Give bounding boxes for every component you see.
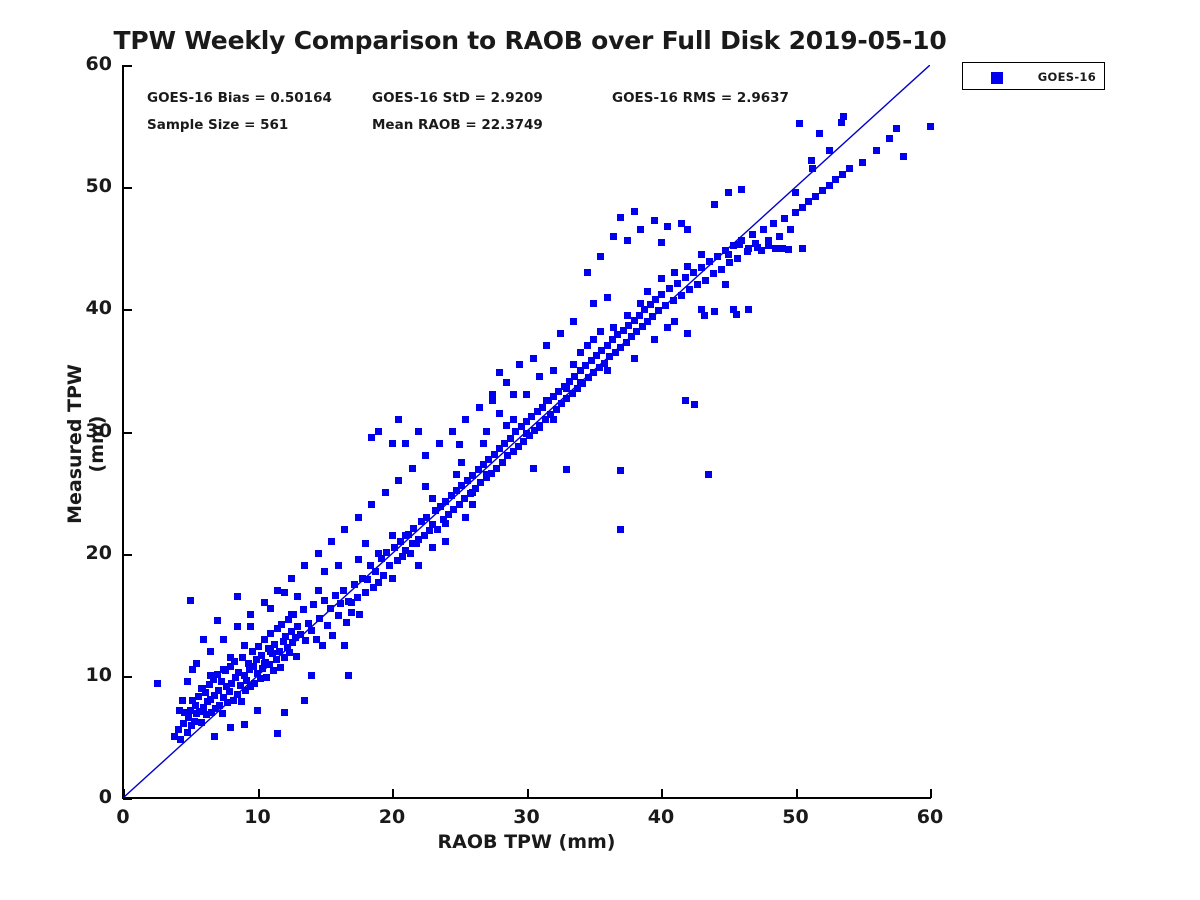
scatter-point — [617, 467, 624, 474]
scatter-point — [624, 237, 631, 244]
scatter-point — [543, 342, 550, 349]
scatter-point — [714, 253, 721, 260]
plot-area — [123, 65, 930, 798]
scatter-point — [796, 120, 803, 127]
scatter-point — [706, 258, 713, 265]
scatter-point — [220, 666, 227, 673]
scatter-point — [288, 575, 295, 582]
scatter-point — [859, 159, 866, 166]
scatter-point — [838, 119, 845, 126]
x-axis-label: RAOB TPW (mm) — [123, 831, 930, 853]
scatter-point — [355, 556, 362, 563]
scatter-point — [321, 568, 328, 575]
scatter-point — [319, 642, 326, 649]
scatter-point — [893, 125, 900, 132]
scatter-point — [536, 373, 543, 380]
scatter-point — [184, 729, 191, 736]
scatter-point — [631, 208, 638, 215]
scatter-point — [698, 264, 705, 271]
scatter-point — [234, 623, 241, 630]
scatter-point — [389, 575, 396, 582]
scatter-point — [263, 674, 270, 681]
y-tick-label: 10 — [32, 664, 112, 686]
scatter-point — [725, 189, 732, 196]
scatter-point — [690, 269, 697, 276]
scatter-point — [839, 171, 846, 178]
scatter-point — [476, 404, 483, 411]
scatter-point — [407, 550, 414, 557]
scatter-point — [184, 678, 191, 685]
scatter-point — [752, 240, 759, 247]
scatter-point — [664, 223, 671, 230]
scatter-point — [310, 601, 317, 608]
scatter-point — [691, 401, 698, 408]
x-tick-label: 40 — [621, 806, 701, 828]
scatter-point — [682, 274, 689, 281]
scatter-point — [241, 721, 248, 728]
scatter-point — [294, 593, 301, 600]
scatter-point — [300, 606, 307, 613]
scatter-point — [220, 636, 227, 643]
scatter-point — [577, 349, 584, 356]
scatter-point — [288, 611, 295, 618]
scatter-point — [281, 589, 288, 596]
scatter-point — [294, 623, 301, 630]
scatter-point — [321, 597, 328, 604]
scatter-point — [510, 391, 517, 398]
y-tick-label: 50 — [32, 175, 112, 197]
scatter-point — [698, 251, 705, 258]
scatter-point — [409, 540, 416, 547]
scatter-point — [469, 501, 476, 508]
scatter-point — [341, 642, 348, 649]
scatter-point — [570, 361, 577, 368]
scatter-point — [702, 277, 709, 284]
scatter-point — [389, 532, 396, 539]
scatter-point — [301, 562, 308, 569]
scatter-point — [722, 281, 729, 288]
scatter-point — [601, 360, 608, 367]
scatter-point — [368, 501, 375, 508]
scatter-point — [261, 636, 268, 643]
scatter-point — [426, 527, 433, 534]
scatter-point — [415, 562, 422, 569]
scatter-point — [651, 336, 658, 343]
scatter-point — [563, 385, 570, 392]
scatter-point — [617, 214, 624, 221]
stat-annotation: GOES-16 RMS = 2.9637 — [612, 90, 789, 106]
scatter-point — [701, 312, 708, 319]
scatter-point — [539, 404, 546, 411]
scatter-point — [734, 255, 741, 262]
scatter-point — [216, 702, 223, 709]
scatter-point — [776, 233, 783, 240]
scatter-point — [255, 643, 262, 650]
scatter-point — [372, 568, 379, 575]
scatter-point — [364, 576, 371, 583]
scatter-point — [590, 300, 597, 307]
scatter-point — [664, 324, 671, 331]
scatter-point — [711, 308, 718, 315]
scatter-point — [337, 600, 344, 607]
scatter-point — [238, 698, 245, 705]
scatter-point — [507, 435, 514, 442]
scatter-point — [623, 339, 630, 346]
scatter-point — [429, 495, 436, 502]
scatter-point — [523, 430, 530, 437]
scatter-point — [362, 589, 369, 596]
x-tick-label: 20 — [352, 806, 432, 828]
scatter-point — [510, 416, 517, 423]
scatter-point — [382, 489, 389, 496]
scatter-point — [671, 318, 678, 325]
scatter-point — [678, 292, 685, 299]
scatter-point — [624, 312, 631, 319]
scatter-point — [792, 189, 799, 196]
scatter-point — [395, 416, 402, 423]
scatter-point — [610, 324, 617, 331]
stat-annotation: Sample Size = 561 — [147, 117, 288, 133]
y-axis-label: Measured TPW (mm) — [64, 334, 108, 554]
scatter-point — [483, 428, 490, 435]
scatter-point — [738, 186, 745, 193]
scatter-point — [694, 281, 701, 288]
scatter-point — [308, 672, 315, 679]
scatter-point — [678, 220, 685, 227]
scatter-point — [469, 472, 476, 479]
scatter-point — [429, 544, 436, 551]
scatter-point — [176, 707, 183, 714]
scatter-point — [422, 483, 429, 490]
scatter-point — [462, 514, 469, 521]
scatter-point — [315, 587, 322, 594]
scatter-point — [458, 459, 465, 466]
scatter-point — [736, 241, 743, 248]
scatter-point — [423, 514, 430, 521]
chart-canvas: TPW Weekly Comparison to RAOB over Full … — [0, 0, 1200, 900]
scatter-point — [644, 288, 651, 295]
scatter-point — [496, 410, 503, 417]
scatter-point — [662, 302, 669, 309]
scatter-point — [187, 597, 194, 604]
scatter-point — [154, 680, 161, 687]
scatter-point — [799, 204, 806, 211]
scatter-point — [383, 549, 390, 556]
scatter-point — [226, 688, 233, 695]
scatter-point — [826, 147, 833, 154]
scatter-point — [469, 489, 476, 496]
scatter-point — [493, 465, 500, 472]
scatter-point — [343, 619, 350, 626]
scatter-point — [553, 406, 560, 413]
scatter-point — [267, 605, 274, 612]
scatter-point — [362, 540, 369, 547]
scatter-point — [557, 330, 564, 337]
scatter-point — [267, 648, 274, 655]
scatter-point — [341, 526, 348, 533]
scatter-point — [770, 220, 777, 227]
scatter-point — [456, 441, 463, 448]
scatter-point — [658, 275, 665, 282]
scatter-point — [175, 726, 182, 733]
scatter-point — [597, 253, 604, 260]
scatter-point — [726, 259, 733, 266]
scatter-point — [637, 300, 644, 307]
scatter-point — [584, 269, 591, 276]
scatter-point — [536, 424, 543, 431]
scatter-point — [422, 452, 429, 459]
scatter-point — [315, 550, 322, 557]
scatter-point — [207, 648, 214, 655]
y-tick-label: 40 — [32, 297, 112, 319]
scatter-point — [397, 538, 404, 545]
scatter-point — [442, 520, 449, 527]
scatter-point — [604, 294, 611, 301]
scatter-point — [710, 270, 717, 277]
scatter-point — [335, 562, 342, 569]
scatter-point — [530, 355, 537, 362]
scatter-point — [631, 355, 638, 362]
scatter-point — [355, 514, 362, 521]
scatter-point — [809, 165, 816, 172]
scatter-point — [453, 471, 460, 478]
scatter-point — [900, 153, 907, 160]
scatter-point — [550, 416, 557, 423]
x-tick-label: 50 — [756, 806, 836, 828]
scatter-point — [503, 379, 510, 386]
scatter-point — [293, 653, 300, 660]
scatter-point — [332, 592, 339, 599]
scatter-point — [328, 538, 335, 545]
scatter-point — [302, 637, 309, 644]
page-title: TPW Weekly Comparison to RAOB over Full … — [0, 26, 1060, 55]
scatter-point — [826, 182, 833, 189]
scatter-point — [499, 459, 506, 466]
scatter-point — [409, 465, 416, 472]
scatter-point — [570, 318, 577, 325]
scatter-point — [503, 422, 510, 429]
scatter-point — [436, 440, 443, 447]
scatter-point — [375, 550, 382, 557]
scatter-point — [375, 428, 382, 435]
scatter-point — [651, 217, 658, 224]
legend-label-goes-16: GOES-16 — [1038, 70, 1096, 84]
scatter-point — [281, 709, 288, 716]
scatter-point — [179, 697, 186, 704]
scatter-point — [386, 562, 393, 569]
scatter-point — [550, 367, 557, 374]
scatter-point — [189, 666, 196, 673]
y-tick-mark — [123, 798, 132, 800]
scatter-point — [219, 710, 226, 717]
scatter-point — [399, 553, 406, 560]
scatter-point — [749, 231, 756, 238]
scatter-point — [658, 239, 665, 246]
scatter-point — [368, 434, 375, 441]
scatter-point — [610, 233, 617, 240]
scatter-point — [658, 291, 665, 298]
scatter-point — [227, 654, 234, 661]
scatter-point — [329, 632, 336, 639]
scatter-point — [308, 627, 315, 634]
scatter-point — [200, 636, 207, 643]
scatter-point — [456, 501, 463, 508]
scatter-point — [211, 733, 218, 740]
scatter-point — [277, 664, 284, 671]
scatter-point — [351, 581, 358, 588]
scatter-points-goes-16 — [123, 65, 930, 798]
scatter-point — [781, 215, 788, 222]
scatter-point — [787, 226, 794, 233]
stat-annotation: GOES-16 Bias = 0.50164 — [147, 90, 332, 106]
scatter-point — [816, 130, 823, 137]
y-tick-label: 60 — [32, 53, 112, 75]
scatter-point — [254, 707, 261, 714]
x-tick-label: 0 — [83, 806, 163, 828]
scatter-point — [597, 328, 604, 335]
scatter-point — [247, 623, 254, 630]
scatter-point — [584, 342, 591, 349]
scatter-point — [214, 617, 221, 624]
scatter-point — [483, 471, 490, 478]
scatter-point — [590, 336, 597, 343]
scatter-point — [301, 697, 308, 704]
scatter-point — [873, 147, 880, 154]
scatter-point — [241, 642, 248, 649]
scatter-point — [324, 622, 331, 629]
scatter-point — [604, 342, 611, 349]
scatter-point — [772, 245, 779, 252]
scatter-point — [261, 660, 268, 667]
scatter-point — [684, 226, 691, 233]
scatter-point — [273, 656, 280, 663]
x-tick-label: 60 — [890, 806, 970, 828]
stat-annotation: GOES-16 StD = 2.9209 — [372, 90, 543, 106]
stat-annotation: Mean RAOB = 22.3749 — [372, 117, 543, 133]
scatter-point — [760, 226, 767, 233]
scatter-point — [682, 397, 689, 404]
scatter-point — [745, 306, 752, 313]
scatter-point — [402, 532, 409, 539]
scatter-point — [480, 440, 487, 447]
scatter-point — [271, 641, 278, 648]
scatter-point — [228, 680, 235, 687]
legend-marker-goes-16 — [991, 72, 1003, 84]
scatter-point — [563, 466, 570, 473]
scatter-point — [808, 157, 815, 164]
scatter-point — [684, 330, 691, 337]
scatter-point — [927, 123, 934, 130]
scatter-point — [207, 672, 214, 679]
legend-box: GOES-16 — [962, 62, 1105, 90]
scatter-point — [200, 704, 207, 711]
scatter-point — [725, 251, 732, 258]
scatter-point — [348, 599, 355, 606]
scatter-point — [198, 685, 205, 692]
scatter-point — [356, 611, 363, 618]
scatter-point — [327, 605, 334, 612]
scatter-point — [711, 201, 718, 208]
scatter-point — [449, 428, 456, 435]
scatter-point — [718, 266, 725, 273]
scatter-point — [785, 246, 792, 253]
scatter-point — [230, 697, 237, 704]
scatter-point — [745, 245, 752, 252]
scatter-point — [198, 719, 205, 726]
scatter-point — [227, 724, 234, 731]
scatter-point — [649, 313, 656, 320]
scatter-point — [415, 428, 422, 435]
scatter-point — [516, 361, 523, 368]
scatter-point — [671, 269, 678, 276]
scatter-point — [812, 193, 819, 200]
x-tick-mark — [930, 789, 932, 798]
scatter-point — [489, 397, 496, 404]
scatter-point — [177, 736, 184, 743]
scatter-point — [395, 477, 402, 484]
x-tick-label: 30 — [487, 806, 567, 828]
scatter-point — [523, 391, 530, 398]
scatter-point — [604, 367, 611, 374]
scatter-point — [345, 672, 352, 679]
scatter-point — [636, 312, 643, 319]
scatter-point — [391, 544, 398, 551]
scatter-point — [258, 652, 265, 659]
scatter-point — [520, 438, 527, 445]
scatter-point — [758, 247, 765, 254]
scatter-point — [577, 379, 584, 386]
scatter-point — [348, 609, 355, 616]
scatter-point — [684, 263, 691, 270]
scatter-point — [617, 526, 624, 533]
scatter-point — [434, 526, 441, 533]
scatter-point — [335, 612, 342, 619]
scatter-point — [442, 538, 449, 545]
scatter-point — [491, 451, 498, 458]
scatter-point — [389, 440, 396, 447]
scatter-point — [247, 611, 254, 618]
scatter-point — [375, 579, 382, 586]
scatter-point — [666, 285, 673, 292]
scatter-point — [442, 498, 449, 505]
scatter-point — [846, 165, 853, 172]
scatter-point — [402, 440, 409, 447]
scatter-point — [705, 471, 712, 478]
x-tick-label: 10 — [218, 806, 298, 828]
scatter-point — [316, 615, 323, 622]
scatter-point — [234, 691, 241, 698]
scatter-point — [799, 245, 806, 252]
scatter-point — [340, 587, 347, 594]
scatter-point — [250, 663, 257, 670]
y-tick-label: 0 — [32, 786, 112, 808]
scatter-point — [180, 720, 187, 727]
scatter-point — [530, 465, 537, 472]
scatter-point — [215, 687, 222, 694]
scatter-point — [462, 416, 469, 423]
scatter-point — [234, 593, 241, 600]
scatter-point — [674, 280, 681, 287]
scatter-point — [305, 620, 312, 627]
scatter-point — [543, 397, 550, 404]
scatter-point — [886, 135, 893, 142]
scatter-point — [670, 297, 677, 304]
scatter-point — [686, 286, 693, 293]
scatter-point — [637, 226, 644, 233]
scatter-point — [380, 572, 387, 579]
scatter-point — [733, 311, 740, 318]
scatter-point — [410, 525, 417, 532]
